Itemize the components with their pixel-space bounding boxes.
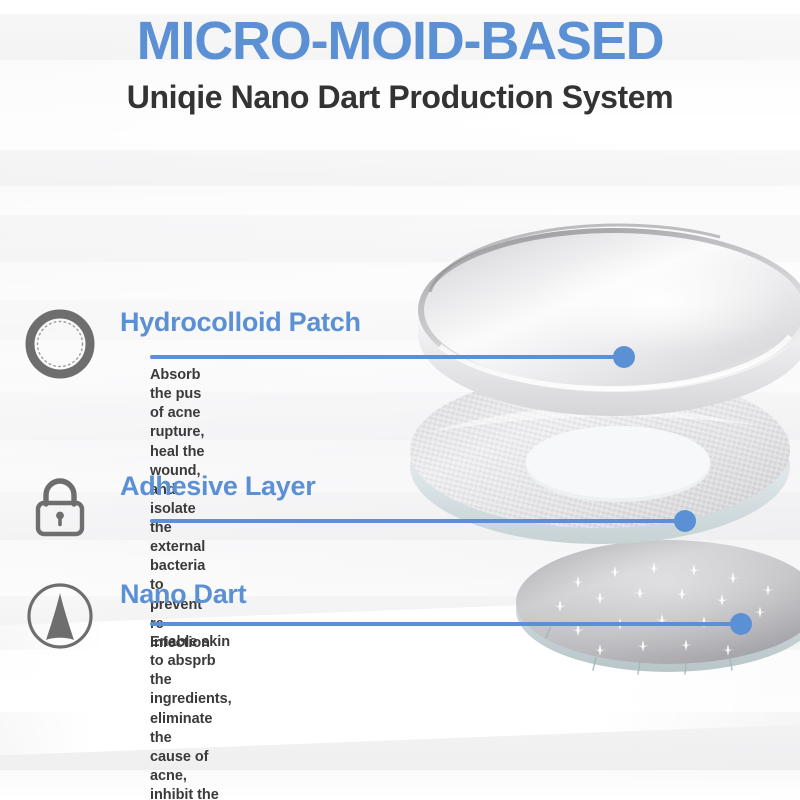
feature-description: Absorb the pus of acne rupture, heal the… — [150, 366, 210, 653]
feature-description: Enable skin to absprb the ingredients, e… — [150, 633, 232, 800]
page-subtitle: Uniqie Nano Dart Production System — [0, 80, 800, 115]
header: MICRO-MOID-BASED Uniqie Nano Dart Produc… — [0, 14, 800, 115]
connector-dot — [613, 346, 635, 368]
connector-line — [150, 355, 624, 359]
connector-dot — [674, 510, 696, 532]
feature-label: Adhesive Layer — [120, 472, 315, 500]
page-title: MICRO-MOID-BASED — [0, 14, 800, 68]
connector-dot — [730, 613, 752, 635]
feature-label: Hydrocolloid Patch — [120, 308, 361, 336]
infographic-page: MICRO-MOID-BASED Uniqie Nano Dart Produc… — [0, 0, 800, 800]
ring-patch-icon — [24, 308, 96, 380]
background-stripes — [0, 0, 800, 800]
connector-line — [150, 622, 741, 626]
lock-icon — [24, 472, 96, 544]
feature-label: Nano Dart — [120, 580, 246, 608]
connector-line — [150, 519, 685, 523]
dart-circle-icon — [24, 580, 96, 652]
